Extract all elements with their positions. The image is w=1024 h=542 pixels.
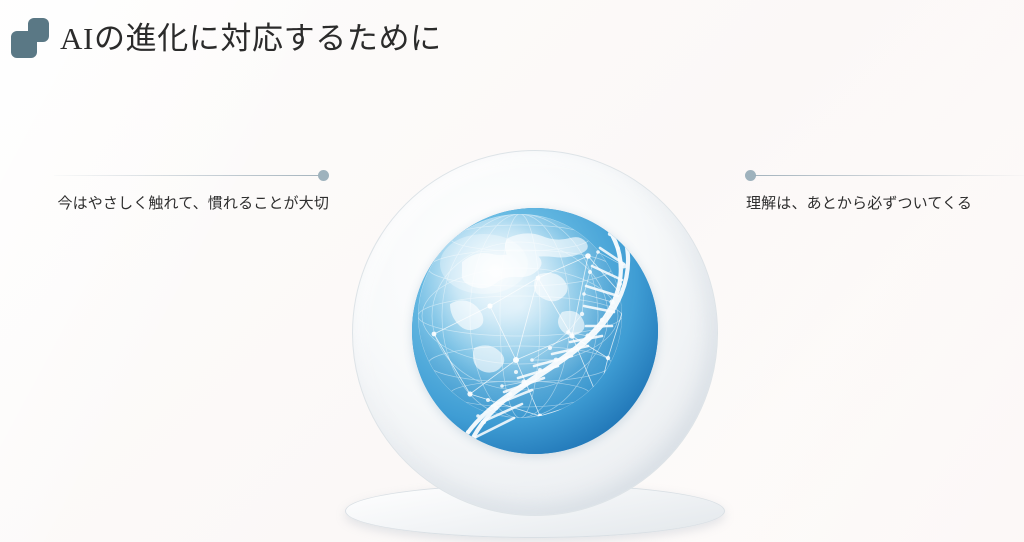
page-title: AIの進化に対応するために — [60, 17, 442, 61]
logo-square-front — [28, 18, 49, 42]
globe-dna-illustration — [338, 148, 730, 542]
globe-dna-svg — [412, 208, 658, 454]
dot-marker-icon — [318, 170, 329, 181]
callout-left-line — [54, 175, 319, 176]
callout-right: 理解は、あとから必ずついてくる — [745, 170, 1024, 218]
callout-right-rule — [745, 170, 1024, 182]
callout-left-text: 今はやさしく触れて、慣れることが大切 — [54, 190, 329, 218]
callout-left-rule — [54, 170, 329, 182]
callout-left: 今はやさしく触れて、慣れることが大切 — [54, 170, 329, 218]
slide-canvas: AIの進化に対応するために 今はやさしく触れて、慣れることが大切 理解は、あとか… — [0, 0, 1024, 542]
callout-right-line — [755, 175, 1024, 176]
two-rounded-squares-logo-icon — [11, 18, 49, 58]
callout-right-text: 理解は、あとから必ずついてくる — [745, 190, 1024, 218]
slide-header: AIの進化に対応するために — [0, 0, 1024, 92]
globe-dna-sphere-icon — [412, 208, 658, 454]
